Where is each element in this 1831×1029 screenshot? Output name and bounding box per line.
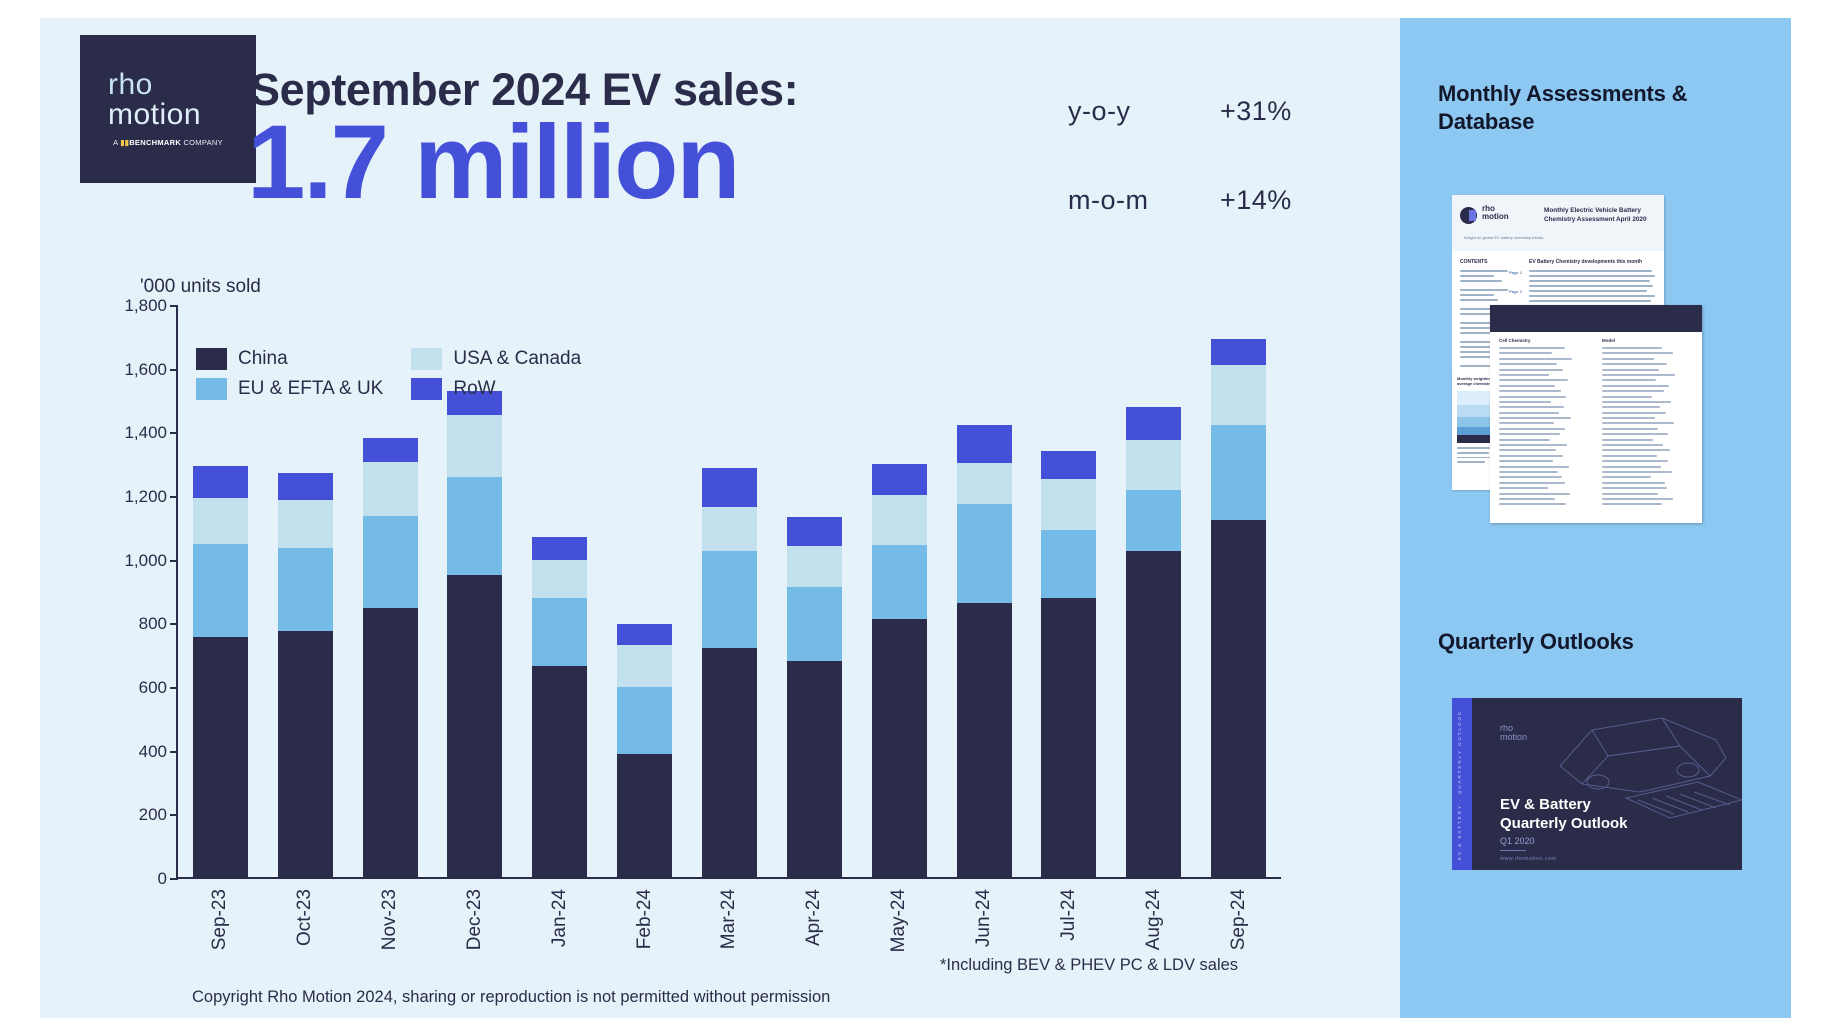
bar-segment-usa-canada[interactable] [193,498,248,544]
y-axis-tick-mark [170,814,178,816]
bar-segment-row[interactable] [1041,451,1096,479]
bar-column[interactable]: Aug-24 [1126,306,1181,877]
bar-column[interactable]: Apr-24 [787,306,842,877]
bar-segment-row[interactable] [1126,407,1181,440]
doc-logo-icon [1460,207,1477,224]
bar-segment-eu-efta-uk[interactable] [617,687,672,754]
contents-label: CONTENTS [1460,259,1522,265]
x-axis-tick-label: Sep-24 [1228,889,1250,950]
bar-segment-row[interactable] [193,466,248,498]
outlook-logo: rho motion [1500,724,1527,743]
toc-page-number: Page 1 [1509,270,1522,275]
outlook-url: www.rhomotion.com [1500,856,1556,862]
y-axis-tick-mark [170,560,178,562]
legend-swatch [411,378,442,400]
chemistry-table: Cell Chemistry [1490,332,1702,515]
bar-segment-china[interactable] [1211,520,1266,877]
bar-segment-china[interactable] [617,754,672,877]
bar-column[interactable]: Feb-24 [617,306,672,877]
x-axis-tick-label: Mar-24 [718,889,740,949]
growth-stats: y-o-y +31% m-o-m +14% [1068,96,1348,274]
sidebar-section-title-quarterly: Quarterly Outlooks [1438,628,1634,656]
bar-segment-row[interactable] [787,517,842,546]
logo-word-rho: rho [108,71,228,100]
x-axis-tick-label: Oct-23 [294,889,316,946]
assessment-doc-subtitle: Insight on global EV battery chemistry t… [1464,235,1543,240]
legend-item[interactable]: China [196,348,383,370]
sidebar: Monthly Assessments & Database rho motio… [1400,18,1791,1018]
bar-column[interactable]: May-24 [872,306,927,877]
bar-segment-usa-canada[interactable] [1126,440,1181,489]
bar-segment-china[interactable] [702,648,757,877]
stat-value-mom: +14% [1220,185,1292,216]
table-column-header: Model [1602,338,1693,343]
stat-label-yoy: y-o-y [1068,96,1220,127]
logo-word-motion: motion [108,100,228,130]
x-axis-tick-label: Apr-24 [803,889,825,946]
x-axis-tick-label: Feb-24 [634,889,656,949]
bar-segment-usa-canada[interactable] [617,645,672,687]
bar-segment-eu-efta-uk[interactable] [702,551,757,648]
bar-segment-usa-canada[interactable] [787,546,842,587]
bar-segment-row[interactable] [872,464,927,496]
bar-column[interactable]: Mar-24 [702,306,757,877]
bar-segment-eu-efta-uk[interactable] [193,544,248,636]
outlook-title-line2: Quarterly Outlook [1500,815,1628,834]
table-column-chemistry: Cell Chemistry [1499,338,1590,509]
bar-segment-china[interactable] [447,575,502,877]
logo-tagline-brand: BENCHMARK [129,138,181,147]
y-axis-tick-mark [170,305,178,307]
bar-segment-usa-canada[interactable] [1041,479,1096,530]
bar-segment-china[interactable] [1126,551,1181,877]
bar-segment-eu-efta-uk[interactable] [447,477,502,575]
bar-segment-eu-efta-uk[interactable] [532,598,587,666]
outlook-spine: EV & BATTERY · QUARTERLY OUTLOOK [1452,698,1472,870]
outlook-quarter: Q1 2020 [1500,836,1535,846]
headline-big-number: 1.7 million [247,108,738,218]
bar-segment-china[interactable] [872,619,927,877]
y-axis-tick-mark [170,432,178,434]
legend-item[interactable]: RoW [411,378,581,400]
x-axis-tick-label: Sep-23 [209,889,231,950]
bar-segment-eu-efta-uk[interactable] [957,504,1012,603]
bar-segment-eu-efta-uk[interactable] [787,587,842,661]
bar-segment-usa-canada[interactable] [532,560,587,598]
stat-row-yoy: y-o-y +31% [1068,96,1348,127]
bar-segment-china[interactable] [363,608,418,877]
monthly-assessment-thumbnails[interactable]: rho motion Monthly Electric Vehicle Batt… [1452,195,1752,525]
outlook-logo-line2: motion [1500,733,1527,742]
outlook-divider [1500,850,1526,851]
x-axis-tick-label: Jul-24 [1058,889,1080,941]
bar-segment-row[interactable] [532,537,587,559]
table-doc-header-bar [1490,305,1702,332]
table-column-model: Model [1602,338,1693,509]
legend-label: USA & Canada [453,348,581,370]
toc-page-number: Page 2 [1509,289,1522,294]
y-axis-tick-mark [170,687,178,689]
y-axis-tick-mark [170,623,178,625]
benchmark-icon: ▮▮ [120,138,129,147]
doc-logo-line2: motion [1482,213,1509,221]
logo-tagline-post: COMPANY [181,138,223,147]
bar-segment-eu-efta-uk[interactable] [278,548,333,631]
legend-label: RoW [453,378,495,400]
toc-entry: Page 1 [1460,270,1522,282]
bar-segment-china[interactable] [532,666,587,877]
outlook-spine-text: EV & BATTERY · QUARTERLY OUTLOOK [1457,710,1462,860]
assessment-doc-title: Monthly Electric Vehicle Battery Chemist… [1544,207,1656,224]
bar-segment-eu-efta-uk[interactable] [872,545,927,619]
bar-segment-row[interactable] [363,438,418,462]
stat-row-mom: m-o-m +14% [1068,185,1348,216]
assessment-body-heading: EV Battery Chemistry developments this m… [1529,259,1656,265]
legend-item[interactable]: USA & Canada [411,348,581,370]
main-panel: rho motion A ▮▮BENCHMARK COMPANY Septemb… [40,18,1400,1018]
legend-swatch [196,348,227,370]
y-axis-tick-mark [170,751,178,753]
bar-segment-eu-efta-uk[interactable] [1041,530,1096,598]
x-axis-tick-label: Jan-24 [549,889,571,947]
y-axis-tick-mark [170,369,178,371]
sidebar-section-title-monthly: Monthly Assessments & Database [1438,80,1738,135]
y-axis-tick-mark [170,878,178,880]
bar-segment-row[interactable] [702,468,757,507]
chart-legend: ChinaUSA & CanadaEU & EFTA & UKRoW [196,348,581,400]
bar-segment-china[interactable] [957,603,1012,877]
bar-column[interactable]: Jul-24 [1041,306,1096,877]
y-axis-tick-mark [170,496,178,498]
legend-label: China [238,348,288,370]
legend-swatch [196,378,227,400]
bar-segment-usa-canada[interactable] [872,495,927,544]
legend-swatch [411,348,442,370]
bar-segment-china[interactable] [787,661,842,877]
rho-motion-logo: rho motion A ▮▮BENCHMARK COMPANY [80,35,256,183]
logo-tagline: A ▮▮BENCHMARK COMPANY [113,138,223,147]
copyright-text: Copyright Rho Motion 2024, sharing or re… [192,988,830,1007]
bar-segment-row[interactable] [957,425,1012,463]
bar-segment-usa-canada[interactable] [702,507,757,552]
bar-segment-eu-efta-uk[interactable] [363,516,418,608]
chemistry-table-thumbnail[interactable]: Cell Chemistry [1490,305,1702,523]
bar-segment-china[interactable] [193,637,248,877]
bar-column[interactable]: Jun-24 [957,306,1012,877]
assessment-doc-header: rho motion Monthly Electric Vehicle Batt… [1452,195,1664,251]
x-axis-tick-label: Nov-23 [379,889,401,950]
infographic-page: rho motion A ▮▮BENCHMARK COMPANY Septemb… [0,0,1831,1029]
bar-segment-usa-canada[interactable] [957,463,1012,504]
x-axis-tick-label: May-24 [888,889,910,952]
stat-label-mom: m-o-m [1068,185,1220,216]
quarterly-outlook-thumbnail[interactable]: EV & BATTERY · QUARTERLY OUTLOOK rho [1452,698,1742,870]
x-axis-tick-label: Aug-24 [1143,889,1165,950]
table-column-header: Cell Chemistry [1499,338,1590,343]
doc-logo-text: rho motion [1482,205,1509,222]
bar-segment-china[interactable] [1041,598,1096,877]
bar-segment-usa-canada[interactable] [278,500,333,548]
bar-segment-eu-efta-uk[interactable] [1126,490,1181,551]
legend-label: EU & EFTA & UK [238,378,383,400]
bar-segment-row[interactable] [617,624,672,645]
y-axis-title: '000 units sold [140,276,261,298]
x-axis-tick-label: Dec-23 [464,889,486,950]
stat-value-yoy: +31% [1220,96,1292,127]
outlook-title: EV & Battery Quarterly Outlook [1500,796,1628,833]
x-axis-tick-label: Jun-24 [973,889,995,947]
bar-segment-usa-canada[interactable] [1211,365,1266,425]
outlook-title-line1: EV & Battery [1500,796,1628,815]
bar-segment-usa-canada[interactable] [363,462,418,516]
bar-column[interactable]: Sep-24 [1211,306,1266,877]
bar-segment-row[interactable] [278,473,333,500]
bar-segment-usa-canada[interactable] [447,415,502,476]
toc-entry: Page 2 [1460,289,1522,301]
bar-segment-eu-efta-uk[interactable] [1211,425,1266,521]
footnote-text: *Including BEV & PHEV PC & LDV sales [940,956,1238,975]
legend-item[interactable]: EU & EFTA & UK [196,378,383,400]
bar-segment-row[interactable] [1211,339,1266,364]
bar-segment-china[interactable] [278,631,333,877]
